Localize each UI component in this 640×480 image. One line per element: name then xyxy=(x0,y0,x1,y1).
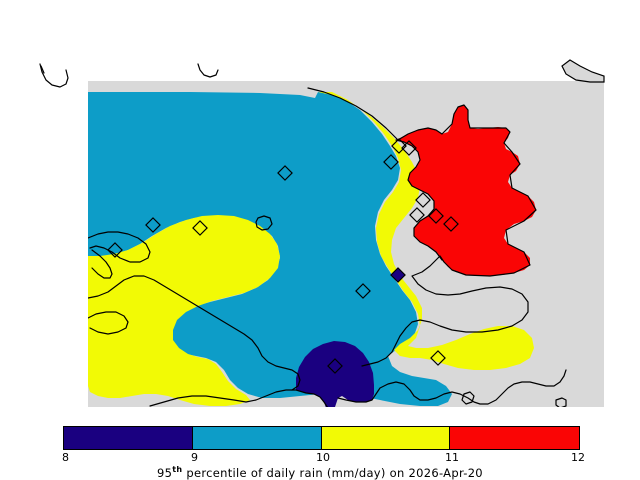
contour-bands xyxy=(88,92,536,412)
colorbar-tick-10: 10 xyxy=(316,451,330,464)
colorbar[interactable] xyxy=(63,426,580,450)
contour-map xyxy=(0,0,640,412)
colorbar-segment-8-9[interactable] xyxy=(64,427,193,449)
colorbar-tick-11: 11 xyxy=(445,451,459,464)
colorbar-panel: 8 9 10 11 12 95th percentile of daily ra… xyxy=(0,418,640,480)
colorbar-segment-11-12[interactable] xyxy=(449,427,579,449)
colorbar-tick-9: 9 xyxy=(191,451,198,464)
colorbar-segment-9-10[interactable] xyxy=(192,427,322,449)
colorbar-caption-superscript: th xyxy=(172,465,182,474)
colorbar-caption-rest: percentile of daily rain (mm/day) on 202… xyxy=(182,466,483,480)
colorbar-tick-12: 12 xyxy=(571,451,585,464)
colorbar-tick-8: 8 xyxy=(62,451,69,464)
colorbar-caption: 95th percentile of daily rain (mm/day) o… xyxy=(0,465,640,480)
map-panel xyxy=(0,0,640,412)
weather-map-page: VictoriaWeather.ca -- Summer Total Daily… xyxy=(0,0,640,480)
colorbar-caption-prefix: 95 xyxy=(157,466,172,480)
colorbar-segment-10-11[interactable] xyxy=(321,427,451,449)
